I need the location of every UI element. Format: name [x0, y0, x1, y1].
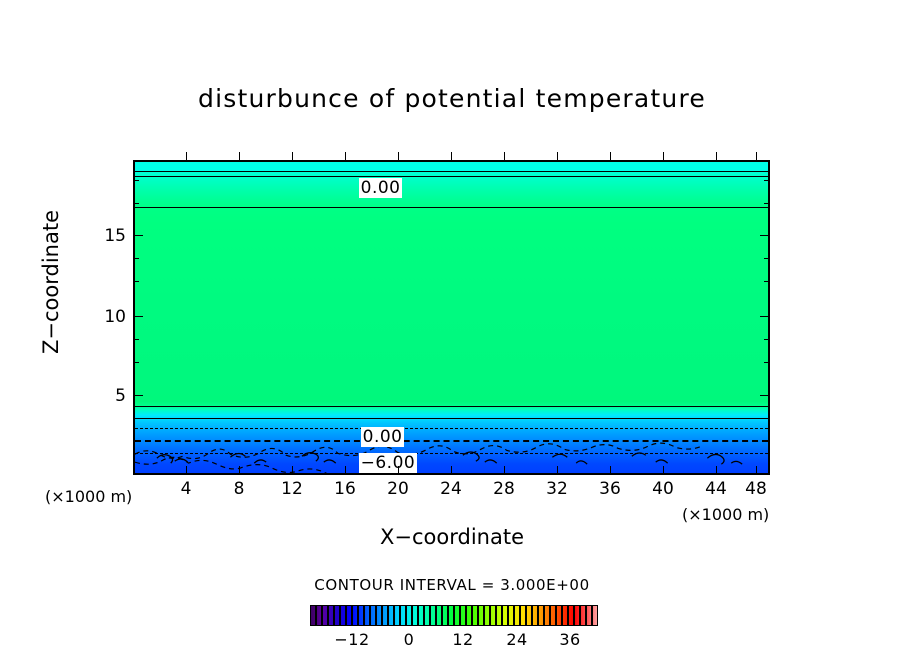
page-title: disturbunce of potential temperature [0, 84, 904, 113]
y-axis-units: (×1000 m) [45, 487, 132, 506]
y-tick-label: 15 [92, 226, 126, 246]
contour-label-top: 0.00 [335, 160, 402, 218]
x-tick-label: 28 [484, 479, 524, 499]
x-tick-label: 4 [166, 479, 206, 499]
x-tick-label: 44 [696, 479, 736, 499]
x-axis-title: X−coordinate [0, 525, 904, 549]
colorbar-tick-label: 24 [497, 630, 537, 649]
contour-line [135, 440, 768, 442]
x-tick-label: 8 [219, 479, 259, 499]
contour-line [135, 207, 768, 208]
contour-line [135, 428, 768, 429]
x-tick-label: 16 [325, 479, 365, 499]
colorbar [310, 605, 598, 626]
y-tick-label: 5 [92, 386, 126, 406]
contour-label-minus-six: −6.00 [335, 433, 417, 475]
x-tick-label: 12 [272, 479, 312, 499]
x-axis-units: (×1000 m) [682, 505, 769, 524]
contour-line [135, 418, 768, 419]
x-tick-label: 24 [431, 479, 471, 499]
colorbar-tick-label: 0 [389, 630, 429, 649]
x-tick-label: 32 [537, 479, 577, 499]
colorbar-tick-label: 12 [443, 630, 483, 649]
x-tick-label: 20 [378, 479, 418, 499]
contour-plot-area: 0.00 0.00 −6.00 [133, 160, 770, 475]
contour-line [135, 176, 768, 177]
y-tick-label: 10 [92, 307, 126, 327]
contour-line [135, 453, 768, 454]
colorbar-tick-label: 36 [550, 630, 590, 649]
x-tick-label: 48 [736, 479, 776, 499]
y-axis-title: Z−coordinate [39, 192, 63, 372]
contour-interval-label: CONTOUR INTERVAL = 3.000E+00 [0, 576, 904, 594]
colorbar-tick-label: −12 [332, 630, 372, 649]
contour-line [135, 406, 768, 407]
x-tick-label: 36 [590, 479, 630, 499]
contour-field-fill [135, 162, 768, 473]
x-tick-label: 40 [643, 479, 683, 499]
top-cyan-band [135, 162, 768, 172]
